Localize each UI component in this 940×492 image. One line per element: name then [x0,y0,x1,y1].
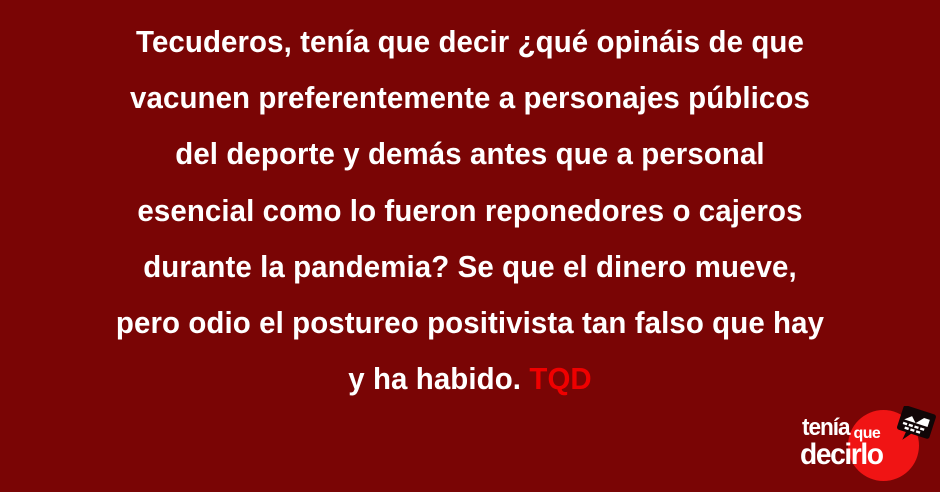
tqd-quote-card: Tecuderos, tenía que decir ¿qué opináis … [0,0,940,492]
logo-word-tenia: tenía [802,416,849,440]
tqd-tag: TQD [529,362,591,396]
quote-line-3: del deporte y demás antes que a personal [92,126,849,182]
quote-line-1: Tecuderos, tenía que decir ¿qué opináis … [92,14,849,70]
quote-text-block: Tecuderos, tenía que decir ¿qué opináis … [0,14,940,407]
logo-word-decirlo: decirlo [800,440,883,470]
speech-bubble-icon [894,406,936,448]
quote-line-5: durante la pandemia? Se que el dinero mu… [92,239,849,295]
logo-line-top: teníaque [802,416,880,440]
logo-line-bottom: decirlo [800,440,888,470]
quote-line-2: vacunen preferentemente a personajes púb… [92,70,849,126]
quote-line-6: pero odio el postureo positivista tan fa… [92,295,849,351]
quote-line-7: y ha habido. TQD [92,351,849,407]
quote-line-4: esencial como lo fueron reponedores o ca… [92,183,849,239]
tenia-que-decirlo-logo[interactable]: teníaque decirlo [798,404,934,484]
quote-last-line-text: y ha habido. [348,362,521,396]
